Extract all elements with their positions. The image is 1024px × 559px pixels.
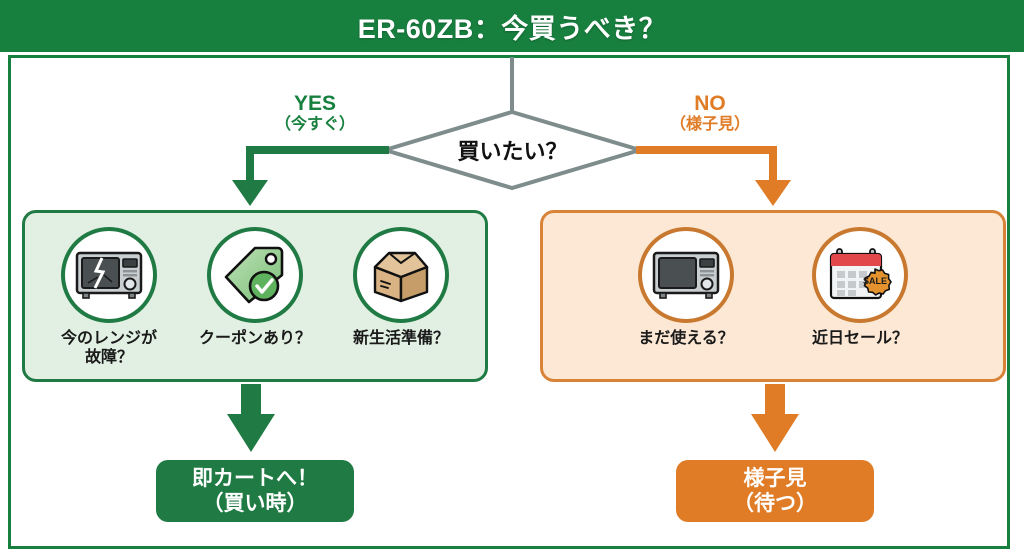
criteria-label: まだ使える？ [638, 330, 734, 349]
branch-yes-title: YES [245, 92, 385, 116]
decision-node: 買いたい？ [385, 110, 640, 190]
branch-yes-subtitle: （今すぐ） [245, 116, 385, 134]
criteria-label: 今のレンジが 故障？ [61, 330, 157, 368]
panel-buy-now: 今のレンジが 故障？ [22, 210, 488, 382]
criteria-item: クーポンあり？ [190, 227, 320, 368]
criteria-label: 新生活準備？ [353, 330, 449, 349]
branch-no-subtitle: （様子見） [640, 116, 780, 134]
cardboard-box-icon [365, 245, 437, 305]
icon-bubble [353, 227, 449, 323]
criteria-item: 今のレンジが 故障？ [44, 227, 174, 368]
calendar-sale-icon: SALE [826, 244, 894, 306]
decision-label: 買いたい？ [385, 110, 640, 190]
criteria-label: 近日セール？ [812, 330, 908, 349]
result-wait: 様子見 （待つ） [676, 460, 874, 522]
branch-label-no: NO （様子見） [640, 92, 780, 133]
icon-bubble: SALE [812, 227, 908, 323]
criteria-item: まだ使える？ [621, 227, 751, 349]
header-banner: ER-60ZB：今買うべき？ [0, 0, 1024, 52]
microwave-icon [651, 247, 721, 303]
panel-wait: まだ使える？ [540, 210, 1006, 382]
icon-bubble [207, 227, 303, 323]
flowchart-infographic: ER-60ZB：今買うべき？ 買いたい？ YES （今すぐ） NO （様子見） [0, 0, 1024, 559]
coupon-tag-check-icon [222, 244, 288, 306]
criteria-label: クーポンあり？ [199, 330, 311, 349]
branch-label-yes: YES （今すぐ） [245, 92, 385, 133]
icon-bubble [638, 227, 734, 323]
page-title: ER-60ZB：今買うべき？ [358, 7, 667, 46]
criteria-item: SALE 近日セール？ [795, 227, 925, 349]
result-buy-now: 即カートへ！ （買い時） [156, 460, 354, 522]
sale-badge-text: SALE [863, 276, 887, 286]
criteria-item: 新生活準備？ [336, 227, 466, 368]
branch-no-title: NO [640, 92, 780, 116]
icon-bubble [61, 227, 157, 323]
broken-microwave-icon [74, 247, 144, 303]
